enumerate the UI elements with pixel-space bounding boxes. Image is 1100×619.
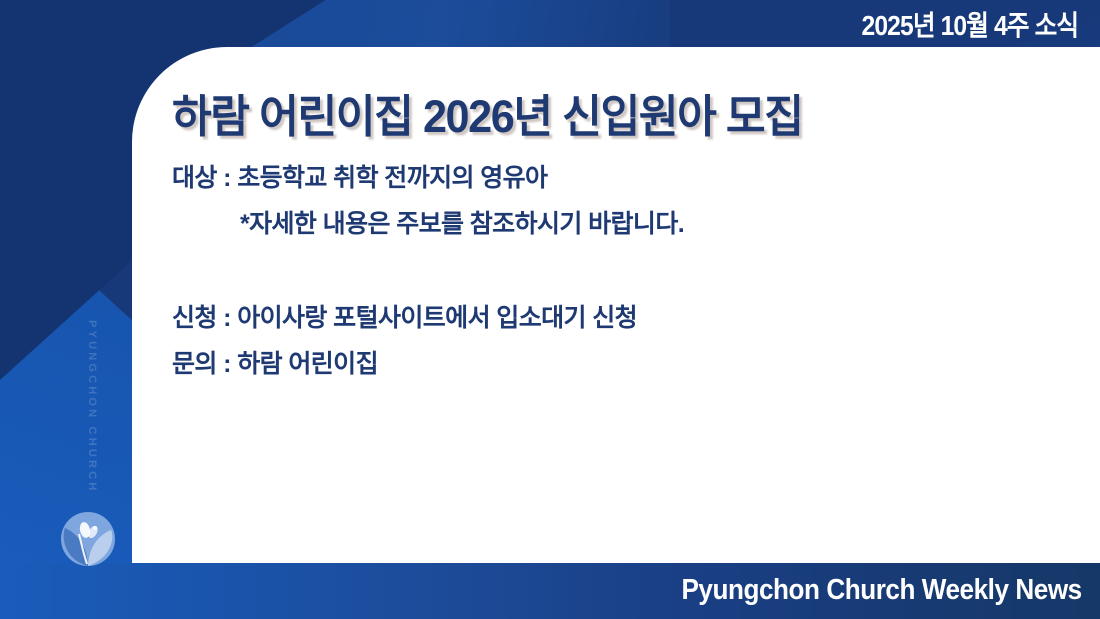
body-content: 대상 : 초등학교 취학 전까지의 영유아 *자세한 내용은 주보를 참조하시기…	[172, 155, 1052, 387]
church-logo	[57, 508, 119, 570]
header-bar: 2025년 10월 4주 소식	[0, 0, 1100, 47]
page-title: 하람 어린이집 2026년 신입원아 모집	[172, 80, 803, 145]
vertical-watermark-text: PYUNGCHON CHURCH	[86, 320, 98, 493]
body-spacer	[172, 247, 1052, 295]
header-date-label: 2025년 10월 4주 소식	[861, 4, 1078, 44]
body-line-note: *자세한 내용은 주보를 참조하시기 바랍니다.	[172, 201, 1052, 247]
content-card: 하람 어린이집 2026년 신입원아 모집 대상 : 초등학교 취학 전까지의 …	[132, 47, 1100, 563]
body-line-target: 대상 : 초등학교 취학 전까지의 영유아	[172, 155, 1052, 201]
footer-brand-text: Pyungchon Church Weekly News	[682, 574, 1082, 607]
flower-logo-icon	[57, 508, 119, 570]
newsletter-slide: 2025년 10월 4주 소식 하람 어린이집 2026년 신입원아 모집 대상…	[0, 0, 1100, 619]
body-line-application: 신청 : 아이사랑 포털사이트에서 입소대기 신청	[172, 295, 1052, 341]
body-line-inquiry: 문의 : 하람 어린이집	[172, 341, 1052, 387]
